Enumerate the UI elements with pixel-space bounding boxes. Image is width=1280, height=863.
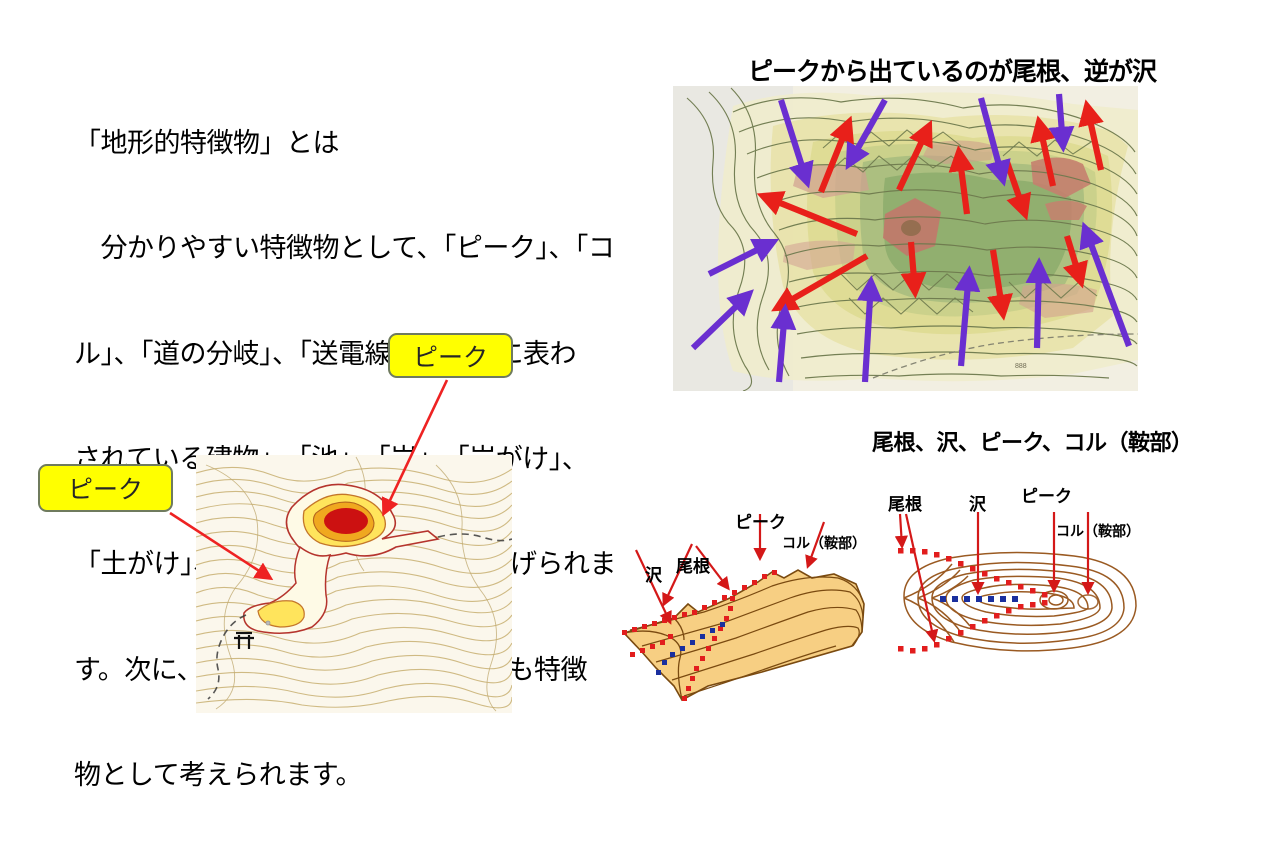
topo-map-title: ピークから出ているのが尾根、逆が沢 <box>748 52 1156 88</box>
block-label-one: 尾根 <box>676 552 710 577</box>
valley-dotted-line <box>940 596 1018 602</box>
callout-peak-left[interactable]: ピーク <box>38 464 173 512</box>
block-label-peak: ピーク <box>735 508 786 533</box>
body-paragraph: 「地形的特徴物」とは 分かりやすい特徴物として、「ピーク」、「コ ル」、「道の分… <box>74 56 634 863</box>
label-pointer-arrows <box>636 514 824 622</box>
topo-map-image: 888 <box>673 86 1138 391</box>
contour-label-sawa: 沢 <box>969 490 986 515</box>
contour-label-peak: ピーク <box>1021 482 1072 507</box>
valley-arrows <box>693 94 1129 382</box>
ridge-dotted-lines <box>898 548 1048 654</box>
block-label-col: コル（鞍部） <box>782 533 866 553</box>
slide-root: 「地形的特徴物」とは 分かりやすい特徴物として、「ピーク」、「コ ル」、「道の分… <box>0 0 1280 720</box>
contour-label-col: コル（鞍部） <box>1056 521 1140 541</box>
callout-peak-top[interactable]: ピーク <box>388 333 513 378</box>
body-line-3: ル」、「道の分岐」、「送電線」、「地図に表わ <box>74 337 634 372</box>
body-line-5: 「土がけ」、「雨裂（うれつ）」等があげられま <box>74 547 634 582</box>
callout-peak-left-label: ピーク <box>68 470 143 506</box>
block-label-sawa: 沢 <box>645 561 662 586</box>
ridge-arrows <box>763 106 1101 314</box>
svg-text:888: 888 <box>1015 363 1027 370</box>
valley-dotted-lines <box>656 622 725 675</box>
contour-label-one: 尾根 <box>888 490 922 515</box>
callout-peak-top-label: ピーク <box>413 338 488 374</box>
body-line-7: 物として考えられます。 <box>74 758 634 793</box>
diagram-section-title: 尾根、沢、ピーク、コル（鞍部） <box>872 425 1193 457</box>
contour-rings <box>904 552 1136 650</box>
ridge-dotted-lines <box>622 570 777 701</box>
body-line-1: 「地形的特徴物」とは <box>74 126 634 161</box>
body-line-6: す。次に、「傾斜転換点」という概念も特徴 <box>74 653 634 688</box>
body-line-2: 分かりやすい特徴物として、「ピーク」、「コ <box>74 231 634 266</box>
